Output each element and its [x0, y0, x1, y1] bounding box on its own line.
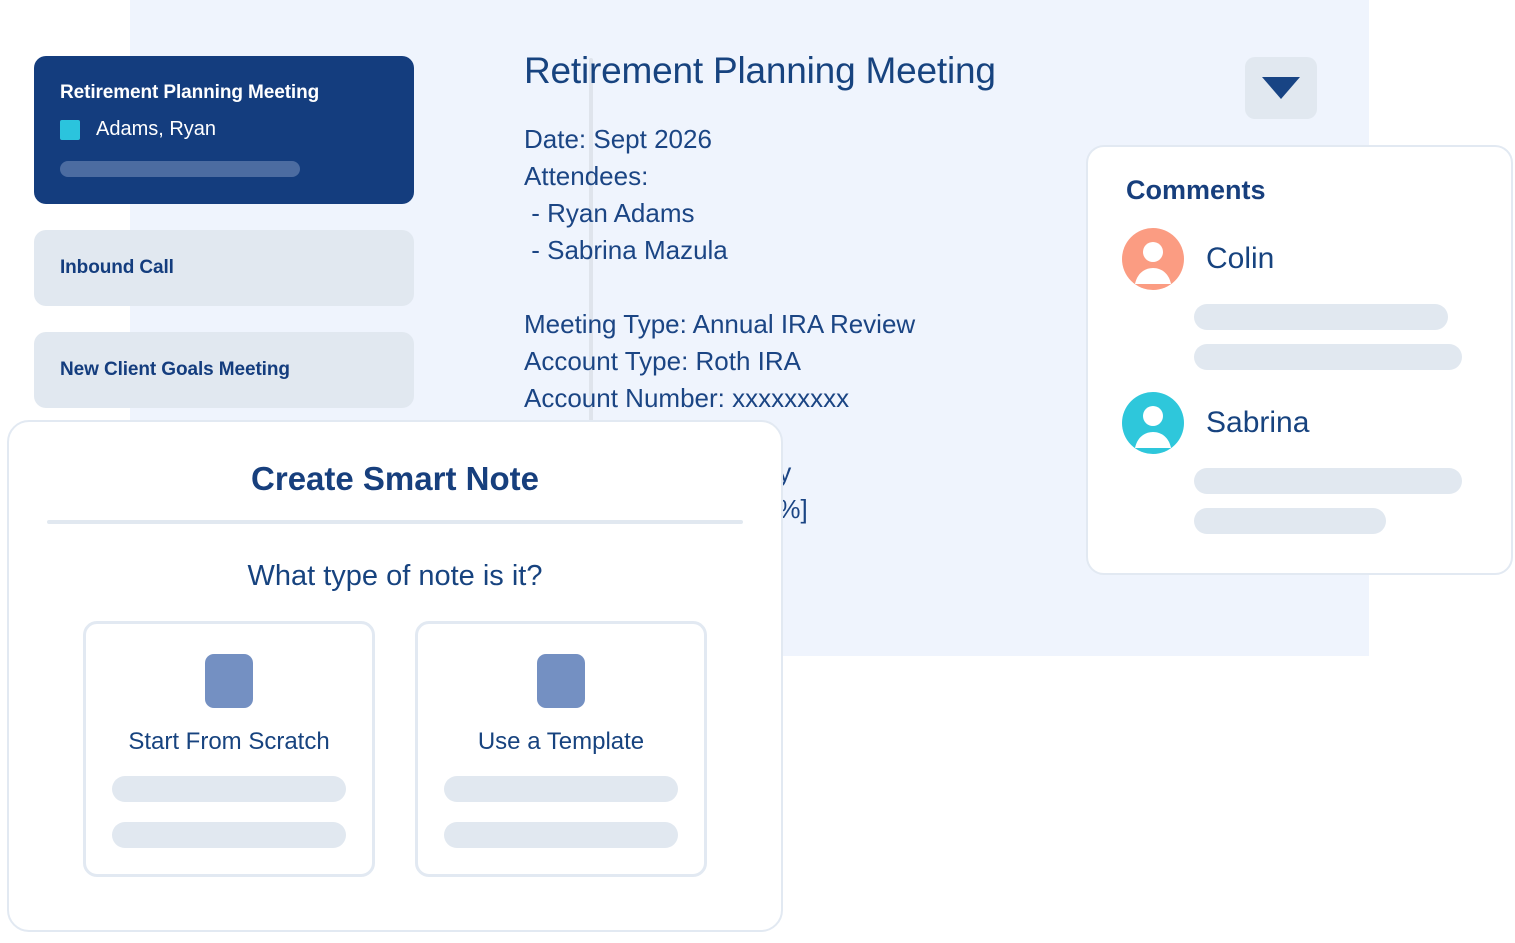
option-label: Use a Template	[444, 728, 678, 756]
modal-question-label: What type of note is it?	[9, 560, 781, 593]
chevron-down-icon	[1262, 77, 1300, 99]
avatar	[1122, 392, 1184, 454]
comment-item: Sabrina	[1122, 392, 1477, 534]
option-start-from-scratch[interactable]: Start From Scratch	[83, 621, 375, 877]
comments-title: Comments	[1126, 175, 1477, 206]
comment-author-name: Colin	[1206, 242, 1274, 276]
note-card-title: Retirement Planning Meeting	[60, 82, 388, 104]
comment-author-row: Sabrina	[1122, 392, 1477, 454]
option-skeleton	[444, 822, 678, 848]
comment-author-name: Sabrina	[1206, 406, 1309, 440]
notes-sidebar: Retirement Planning Meeting Adams, Ryan …	[34, 56, 414, 434]
note-card-title: New Client Goals Meeting	[60, 359, 290, 381]
comment-text-skeleton	[1194, 508, 1386, 534]
template-icon	[537, 654, 585, 708]
client-name: Adams, Ryan	[96, 118, 216, 141]
modal-title: Create Smart Note	[9, 460, 781, 498]
option-use-a-template[interactable]: Use a Template	[415, 621, 707, 877]
option-skeleton	[444, 776, 678, 802]
sidebar-item-new-client-goals-meeting[interactable]: New Client Goals Meeting	[34, 332, 414, 408]
comment-text-skeleton	[1194, 468, 1462, 494]
client-color-swatch-icon	[60, 120, 80, 140]
avatar	[1122, 228, 1184, 290]
comment-text-skeleton	[1194, 344, 1462, 370]
modal-divider	[47, 520, 743, 524]
note-card-client: Adams, Ryan	[60, 118, 388, 141]
sidebar-item-retirement-planning-meeting[interactable]: Retirement Planning Meeting Adams, Ryan	[34, 56, 414, 204]
note-options-dropdown-button[interactable]	[1245, 57, 1317, 119]
sidebar-item-inbound-call[interactable]: Inbound Call	[34, 230, 414, 306]
comment-item: Colin	[1122, 228, 1477, 370]
note-card-skeleton-bar	[60, 161, 300, 177]
option-skeleton	[112, 822, 346, 848]
comment-text-skeleton	[1194, 304, 1448, 330]
create-smart-note-modal: Create Smart Note What type of note is i…	[7, 420, 783, 932]
comments-panel: Comments Colin Sabrina	[1086, 145, 1513, 575]
document-icon	[205, 654, 253, 708]
option-label: Start From Scratch	[112, 728, 346, 756]
page-title: Retirement Planning Meeting	[524, 50, 1224, 93]
note-type-options: Start From Scratch Use a Template	[9, 621, 781, 877]
note-card-title: Inbound Call	[60, 257, 174, 279]
option-skeleton	[112, 776, 346, 802]
comment-author-row: Colin	[1122, 228, 1477, 290]
